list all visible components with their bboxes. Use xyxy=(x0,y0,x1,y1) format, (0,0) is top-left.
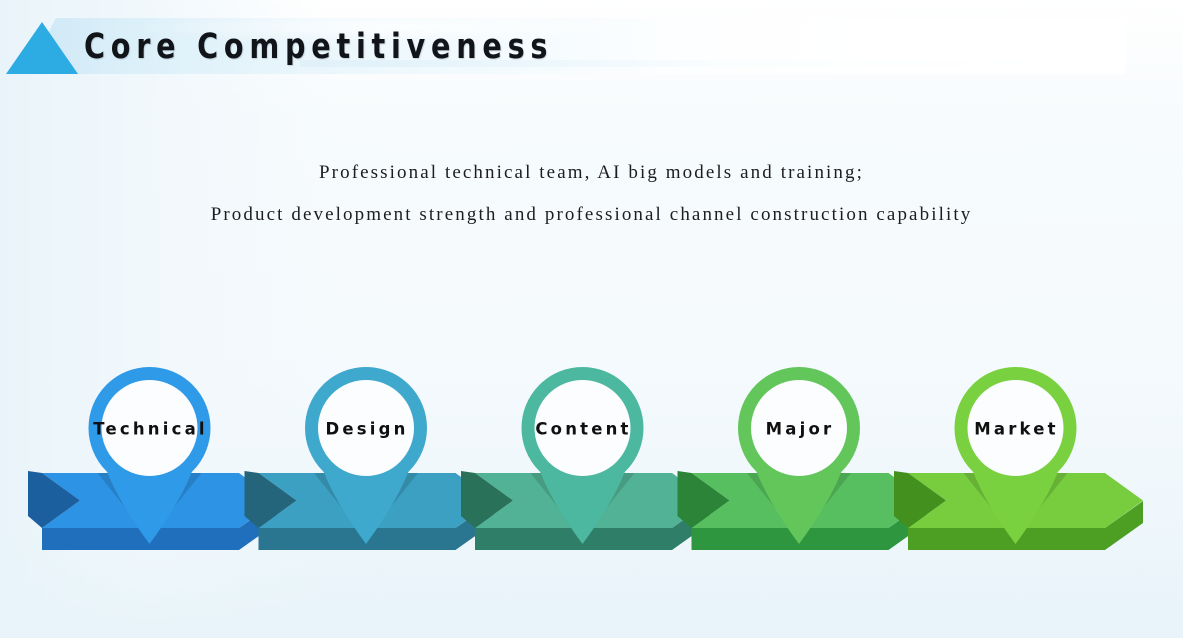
triangle-icon xyxy=(6,22,78,74)
core-competitiveness-diagram: TechnicalDesignContentMajorMarket xyxy=(0,340,1183,590)
diagram-step[interactable]: Technical xyxy=(28,374,277,551)
pin-label: Market xyxy=(974,420,1059,439)
pin-label: Technical xyxy=(93,420,208,439)
diagram-step[interactable]: Market xyxy=(894,374,1143,551)
subtitle-line-2: Product development strength and profess… xyxy=(0,194,1183,236)
diagram-step[interactable]: Content xyxy=(461,374,710,551)
diagram-canvas: TechnicalDesignContentMajorMarket xyxy=(0,340,1183,590)
diagram-step[interactable]: Major xyxy=(678,374,927,551)
subtitle-line-1: Professional technical team, AI big mode… xyxy=(0,152,1183,194)
pin-label: Design xyxy=(325,420,408,439)
diagram-step[interactable]: Design xyxy=(245,374,494,551)
header-banner: Core Competitiveness xyxy=(0,0,1183,96)
pin-label: Content xyxy=(535,420,631,439)
subtitle-block: Professional technical team, AI big mode… xyxy=(0,152,1183,236)
pin-label: Major xyxy=(766,420,835,439)
page-title: Core Competitiveness xyxy=(84,22,553,72)
